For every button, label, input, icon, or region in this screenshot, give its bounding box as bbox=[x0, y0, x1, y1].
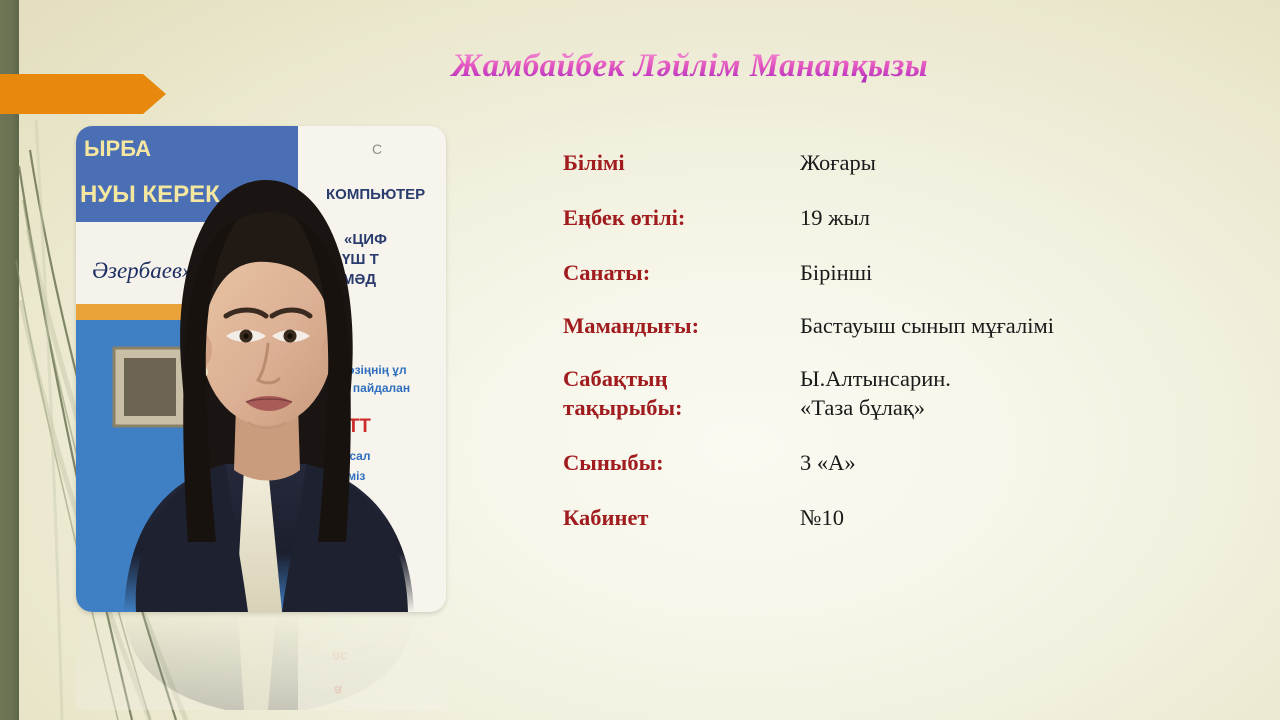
row-value: Бірінші bbox=[800, 258, 1253, 287]
row-label: Кабинет bbox=[563, 503, 800, 532]
reflection-graphic: а ас bbox=[76, 614, 446, 710]
svg-text:ҮШ Т: ҮШ Т bbox=[342, 251, 379, 268]
table-row: Сыныбы: 3 «А» bbox=[563, 448, 1253, 477]
svg-text:КОМПЬЮТЕР: КОМПЬЮТЕР bbox=[326, 186, 425, 203]
table-row: Сабақтың тақырыбы: Ы.Алтынсарин. «Таза б… bbox=[563, 364, 1253, 422]
svg-text:а: а bbox=[334, 683, 342, 699]
row-label: Сыныбы: bbox=[563, 448, 800, 477]
photo-reflection: а ас bbox=[76, 614, 446, 710]
page-title: Жамбайбек Ләйлім Манапқызы bbox=[370, 48, 1010, 85]
table-row: Білімі Жоғары bbox=[563, 148, 1253, 177]
row-value: 19 жыл bbox=[800, 203, 1253, 232]
orange-arrow-banner bbox=[0, 74, 166, 114]
table-row: Мамандығы: Бастауыш сынып мұғалімі bbox=[563, 311, 1253, 340]
table-row: Санаты: Бірінші bbox=[563, 258, 1253, 287]
svg-text:ас: ас bbox=[332, 649, 348, 665]
row-label: Сабақтың тақырыбы: bbox=[563, 364, 800, 422]
row-value: Ы.Алтынсарин. «Таза бұлақ» bbox=[800, 364, 1253, 422]
teacher-info-table: Білімі Жоғары Еңбек өтілі: 19 жыл Санаты… bbox=[563, 148, 1253, 558]
row-value: Жоғары bbox=[800, 148, 1253, 177]
table-row: Кабинет №10 bbox=[563, 503, 1253, 532]
svg-text:НУЫ КЕРЕК: НУЫ КЕРЕК bbox=[80, 181, 220, 208]
row-label: Мамандығы: bbox=[563, 311, 800, 340]
svg-text:Әзербаев»: Әзербаев» bbox=[92, 258, 193, 283]
row-value: 3 «А» bbox=[800, 448, 1253, 477]
row-label: Еңбек өтілі: bbox=[563, 203, 800, 232]
teacher-photo: ЫРБА НУЫ КЕРЕК Әзербаев» КОМПЬЮТЕР «ЦИФ … bbox=[76, 126, 446, 612]
portrait-illustration: ЫРБА НУЫ КЕРЕК Әзербаев» КОМПЬЮТЕР «ЦИФ … bbox=[76, 126, 446, 612]
row-value: №10 bbox=[800, 503, 1253, 532]
svg-text:«ЦИФ: «ЦИФ bbox=[344, 231, 387, 248]
row-label: Санаты: bbox=[563, 258, 800, 287]
slide-canvas: Жамбайбек Ләйлім Манапқызы bbox=[0, 0, 1280, 720]
svg-text:ЫРБА: ЫРБА bbox=[84, 136, 151, 161]
row-value: Бастауыш сынып мұғалімі bbox=[800, 311, 1253, 340]
table-row: Еңбек өтілі: 19 жыл bbox=[563, 203, 1253, 232]
svg-text:С: С bbox=[372, 141, 382, 157]
row-label: Білімі bbox=[563, 148, 800, 177]
